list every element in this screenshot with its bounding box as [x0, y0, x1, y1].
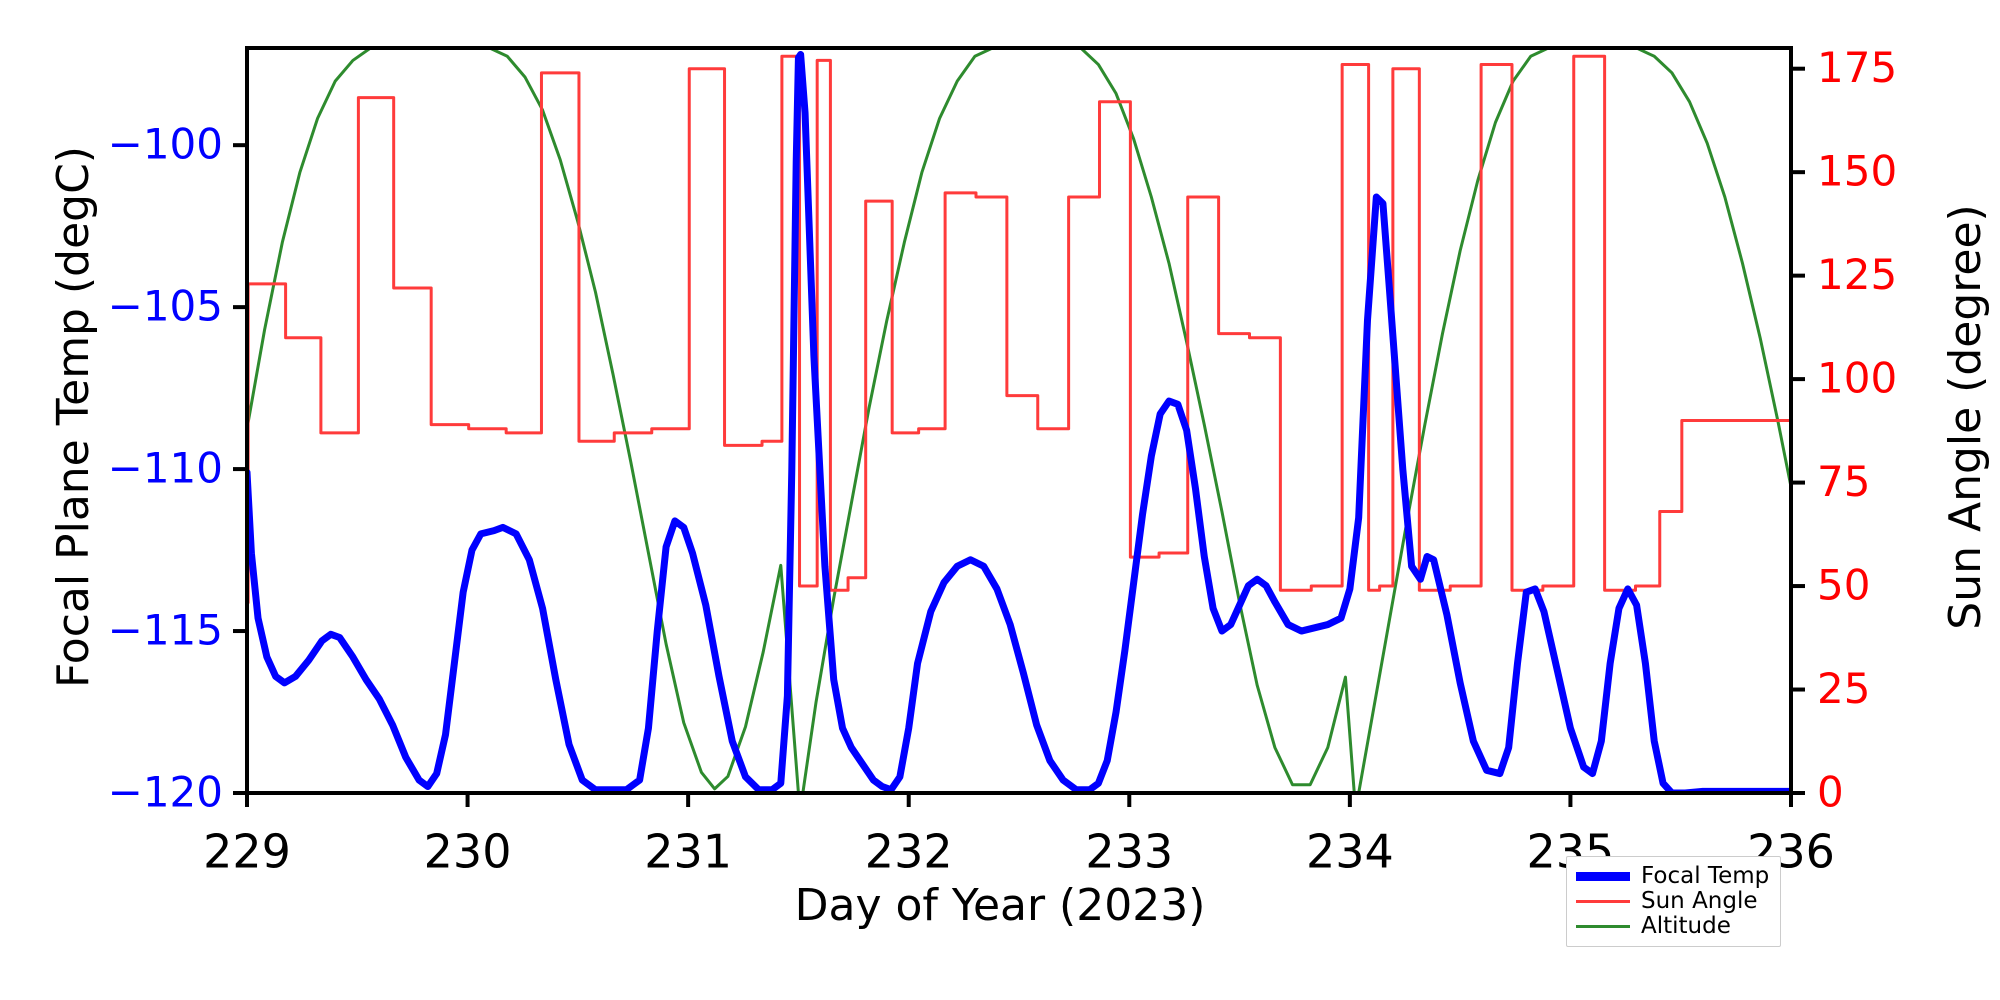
y-tick-label-right: 25 — [1817, 664, 1870, 713]
y-tick-label-right: 75 — [1817, 457, 1870, 506]
chart-legend: Focal Temp Sun Angle Altitude — [1566, 856, 1781, 947]
y-tick-label-left: −115 — [108, 606, 223, 655]
y-tick-label-left: −120 — [108, 768, 223, 817]
chart-figure: −120−115−110−105−100 0255075100125150175… — [0, 0, 2000, 1000]
series-line-focal-temp — [247, 54, 1791, 793]
y-axis-right-label: Sun Angle (degree) — [1936, 44, 1996, 790]
x-tick-label: 234 — [1306, 825, 1394, 879]
y-tick-label-left: −100 — [108, 120, 223, 169]
y-tick-label-right: 50 — [1817, 561, 1870, 610]
legend-label: Sun Angle — [1641, 889, 1758, 914]
y-tick-label-right: 100 — [1817, 354, 1897, 403]
legend-item[interactable]: Focal Temp — [1576, 864, 1769, 889]
y-tick-label-right: 150 — [1817, 147, 1897, 196]
legend-item[interactable]: Sun Angle — [1576, 889, 1769, 914]
y-tick-label-right: 175 — [1817, 43, 1897, 92]
y-tick-label-left: −110 — [108, 444, 223, 493]
x-tick-label: 232 — [865, 825, 953, 879]
legend-swatch-sun-angle — [1576, 900, 1630, 903]
y-axis-left-ticks: −120−115−110−105−100 — [108, 120, 247, 817]
y-tick-label-right: 125 — [1817, 250, 1897, 299]
legend-swatch-altitude — [1576, 925, 1630, 928]
y-tick-label-left: −105 — [108, 282, 223, 331]
legend-label: Focal Temp — [1641, 864, 1769, 889]
legend-label: Altitude — [1641, 914, 1731, 939]
x-tick-label: 230 — [424, 825, 512, 879]
legend-swatch-focal-temp — [1576, 872, 1630, 881]
legend-item[interactable]: Altitude — [1576, 914, 1769, 939]
x-axis-label: Day of Year (2023) — [560, 880, 1440, 931]
y-axis-left-label: Focal Plane Temp (degC) — [44, 44, 104, 790]
x-tick-label: 229 — [203, 825, 291, 879]
y-axis-right-ticks: 0255075100125150175 — [1791, 43, 1897, 816]
x-tick-label: 231 — [644, 825, 732, 879]
y-tick-label-right: 0 — [1817, 768, 1844, 817]
data-series-group — [247, 48, 1791, 793]
chart-canvas: −120−115−110−105−100 0255075100125150175… — [0, 0, 2000, 1000]
x-tick-label: 233 — [1085, 825, 1173, 879]
series-line-sun-angle — [247, 56, 1791, 602]
